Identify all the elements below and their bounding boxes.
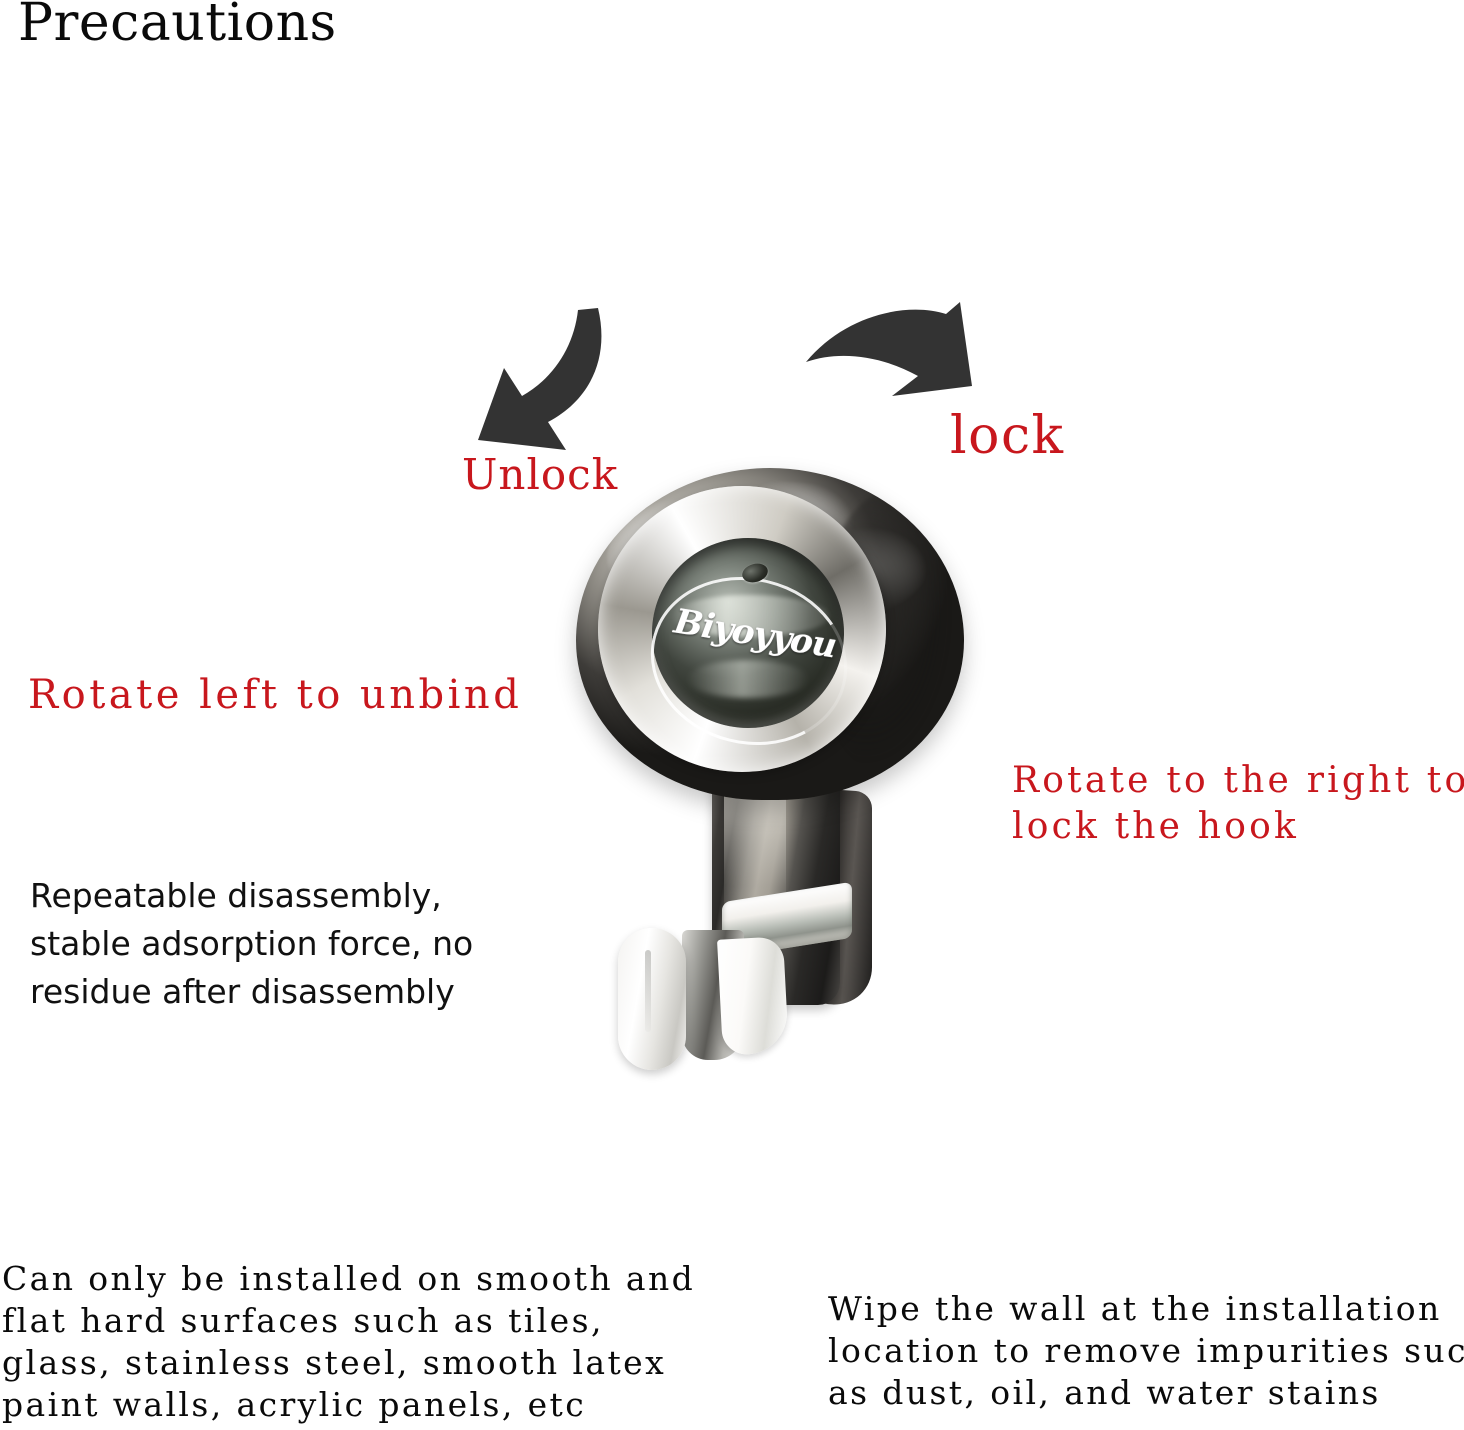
surfaces-note: Can only be installed on smooth and flat… xyxy=(2,1258,695,1426)
page-title: Precautions xyxy=(18,0,337,54)
rotate-right-line-2: lock the hook xyxy=(1012,806,1299,847)
hook-front-prong xyxy=(618,928,686,1070)
rotate-right-callout: Rotate to the right tolock the hook xyxy=(1012,758,1464,850)
suction-cup-chrome-ring: Biyoyyou xyxy=(598,486,886,772)
rotate-right-line-1: Rotate to the right to xyxy=(1012,760,1464,801)
hook-tongue xyxy=(717,936,789,1055)
curved-arrow-down-left-icon xyxy=(470,300,620,460)
rotate-left-callout: Rotate left to unbind xyxy=(28,672,522,718)
lock-label: lock xyxy=(950,406,1065,466)
wipe-wall-note: Wipe the wall at the installation locati… xyxy=(828,1288,1464,1414)
adsorption-note: Repeatable disassembly, stable adsorptio… xyxy=(30,872,550,1016)
product-image-suction-hook: Biyoyyou xyxy=(570,460,970,1070)
